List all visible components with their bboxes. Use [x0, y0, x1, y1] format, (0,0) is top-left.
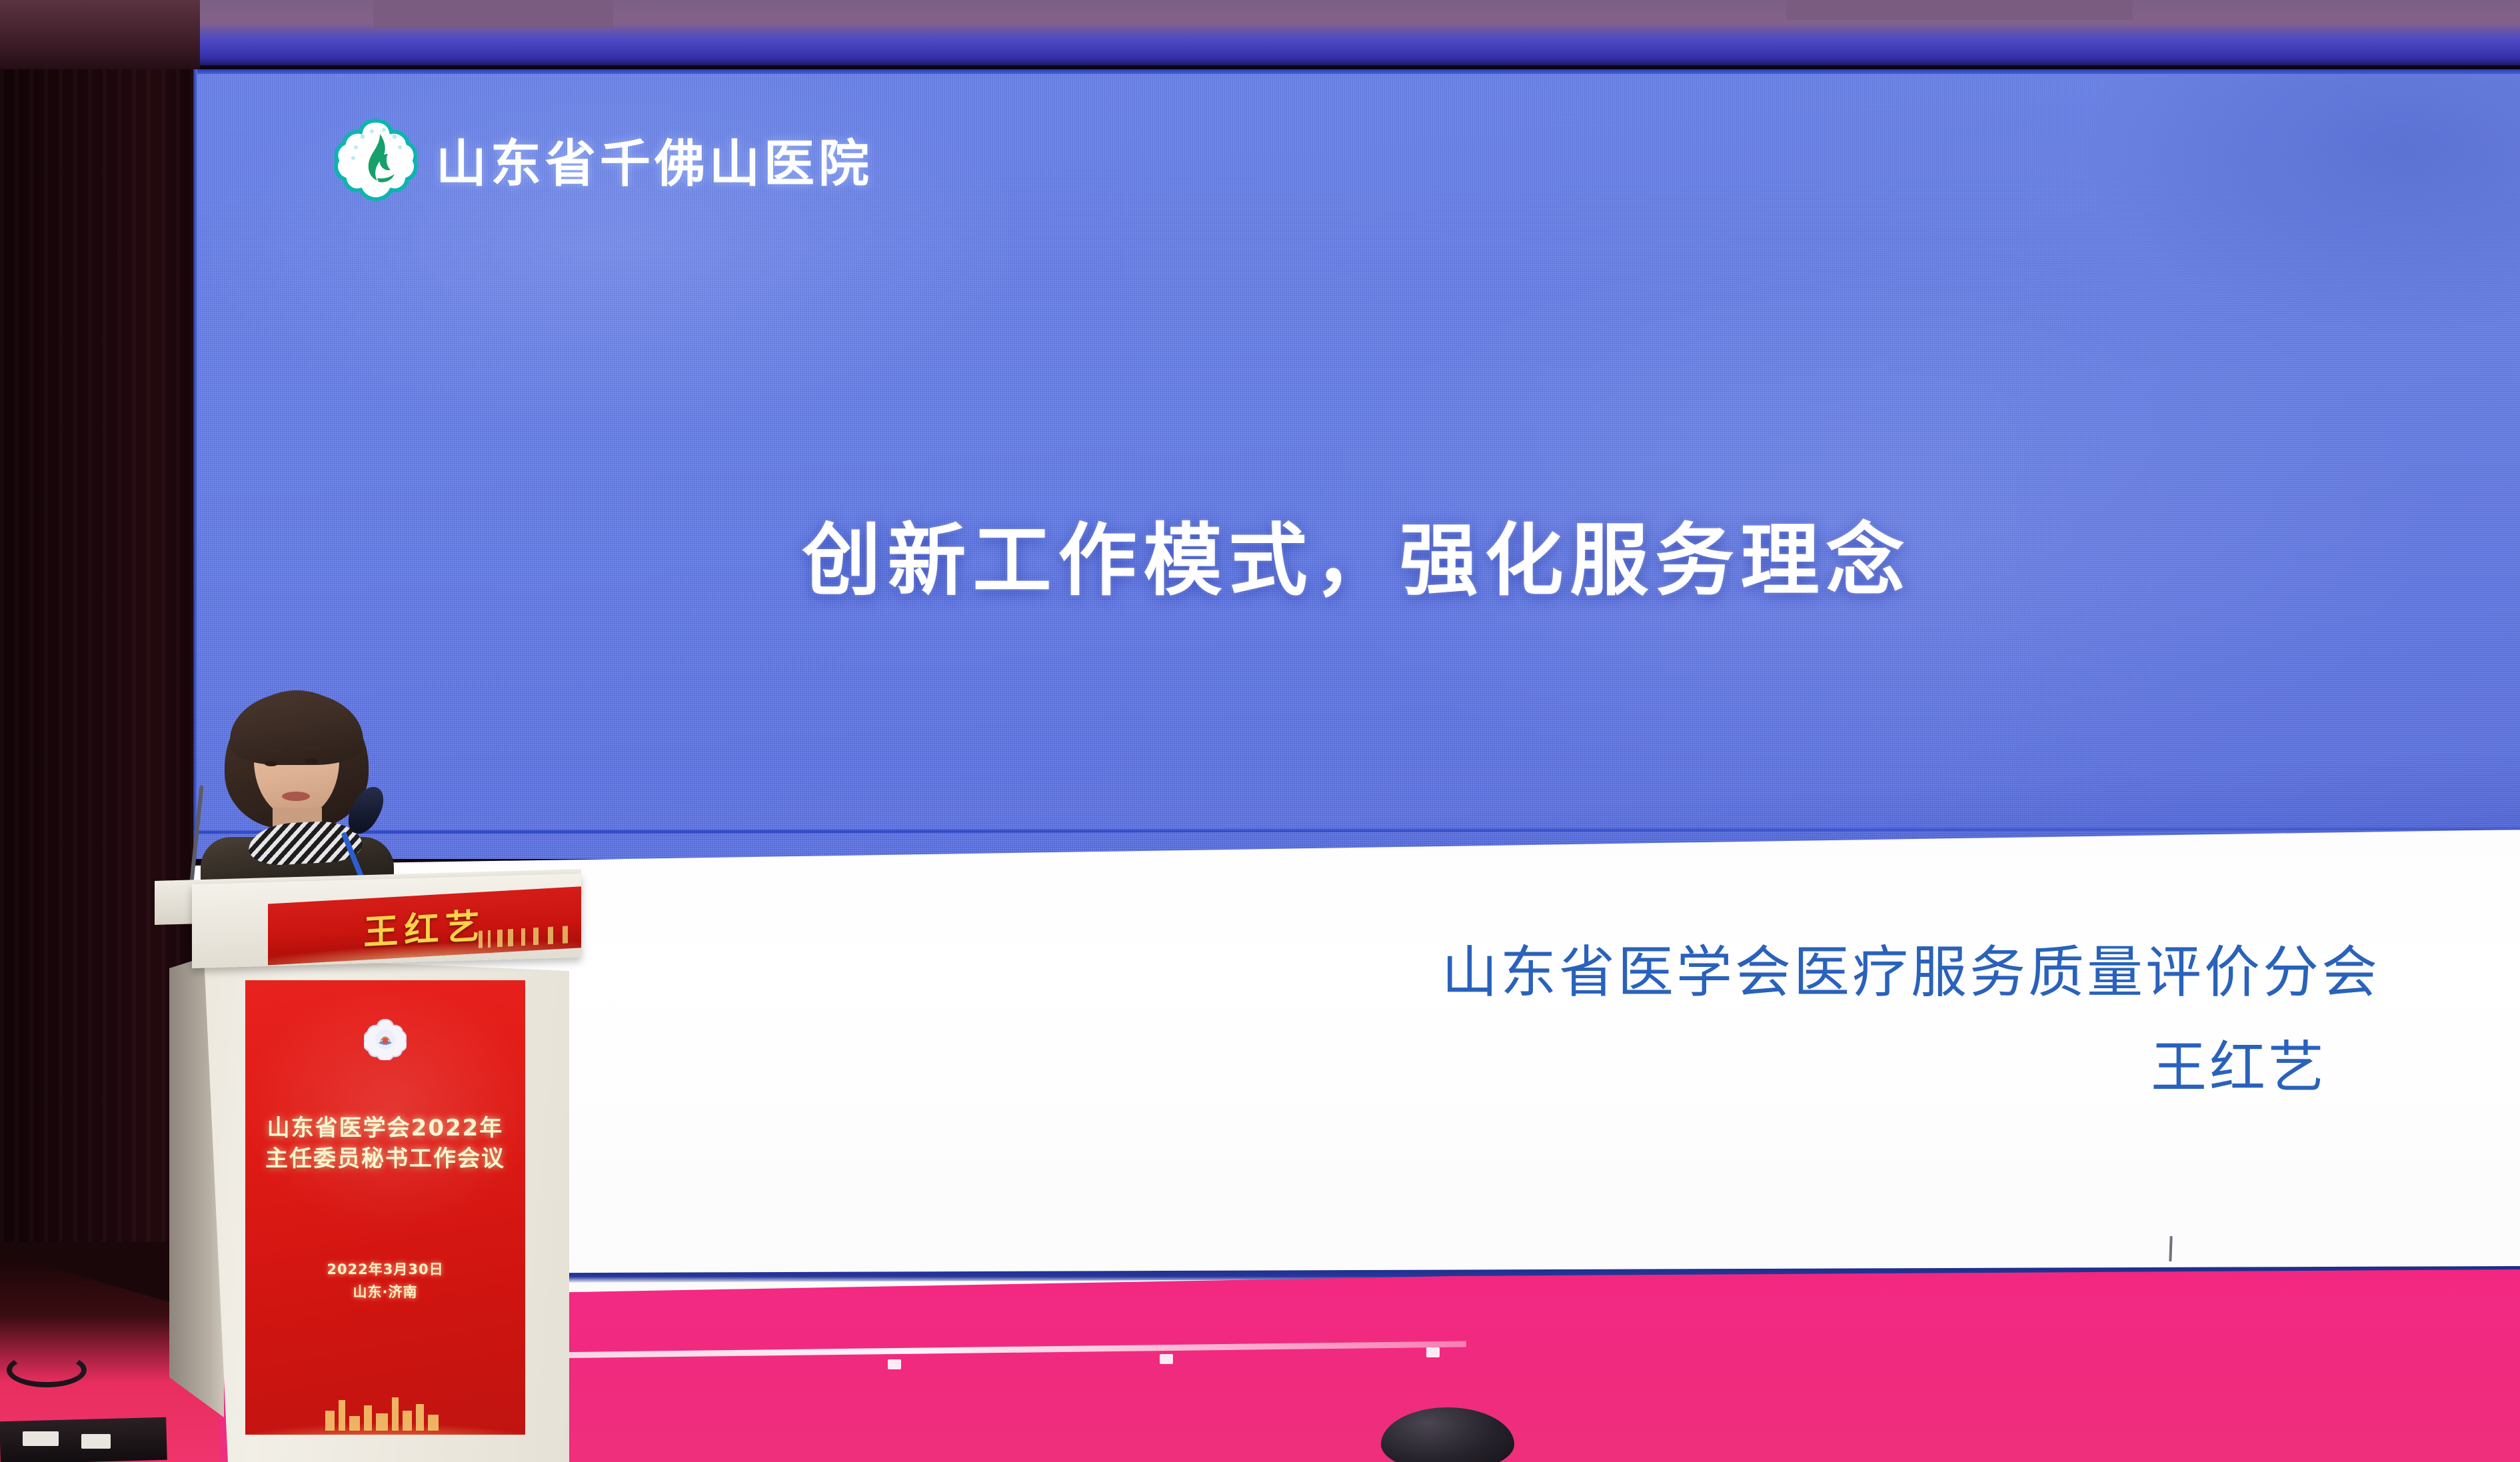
stage-marker-dot [1426, 1347, 1440, 1357]
hospital-flame-emblem-icon [333, 117, 419, 202]
ceiling-notch-right [1786, 0, 2133, 20]
stage-marker-dot [888, 1359, 901, 1369]
podium-front-panel: 山东省医学会2022年 主任委员秘书工作会议 2022年3月30日 山东·济南 [245, 980, 525, 1435]
stage-monitor-stripe [23, 1431, 59, 1446]
podium-conference-line1: 山东省医学会2022年 [245, 1109, 525, 1142]
stage-monitor-stripe [81, 1434, 111, 1449]
podium-conference-date: 2022年3月30日 [245, 1259, 525, 1279]
podium-conference-line2: 主任委员秘书工作会议 [245, 1140, 525, 1173]
podium-skyline-graphic [245, 1377, 525, 1435]
slide-branding: 山东省千佛山医院 [333, 117, 873, 202]
speaker-person [190, 680, 470, 900]
curtain-top-left [0, 0, 200, 80]
ceiling-notch-left [373, 0, 613, 28]
podium-nameplate: 王红艺 [268, 886, 581, 965]
slide-presenter-name: 王红艺 [2151, 1023, 2327, 1103]
speaker-eye-right [305, 758, 318, 764]
speaker-eyebrow-right [302, 746, 321, 750]
podium-header-band: 王红艺 [192, 874, 581, 968]
stage-marker-dot [1160, 1354, 1173, 1364]
led-screen-top-edge [193, 69, 2520, 74]
medical-association-emblem-icon [364, 1018, 407, 1060]
speaker-eye-left [265, 761, 278, 766]
hospital-name: 山东省千佛山医院 [436, 123, 873, 196]
speaker-hair-fringe [230, 692, 363, 765]
speaker-eyebrow-left [263, 749, 282, 752]
podium: 王红艺 山东省医学会2022年 主任委员秘书工作会议 2022年3月30日 山东… [155, 870, 581, 1462]
speaker-mouth [282, 792, 310, 801]
slide-title: 创新工作模式，强化服务理念 [193, 496, 2520, 610]
podium-conference-place: 山东·济南 [245, 1281, 525, 1301]
stage-cable [7, 1353, 87, 1387]
slide-subtitle-organization: 山东省医学会医疗服务质量评价分会 [1442, 933, 2380, 1012]
conference-photo-scene: 山东省千佛山医院 创新工作模式，强化服务理念 山东省医学会医疗服务质量评价分会 … [0, 0, 2520, 1462]
